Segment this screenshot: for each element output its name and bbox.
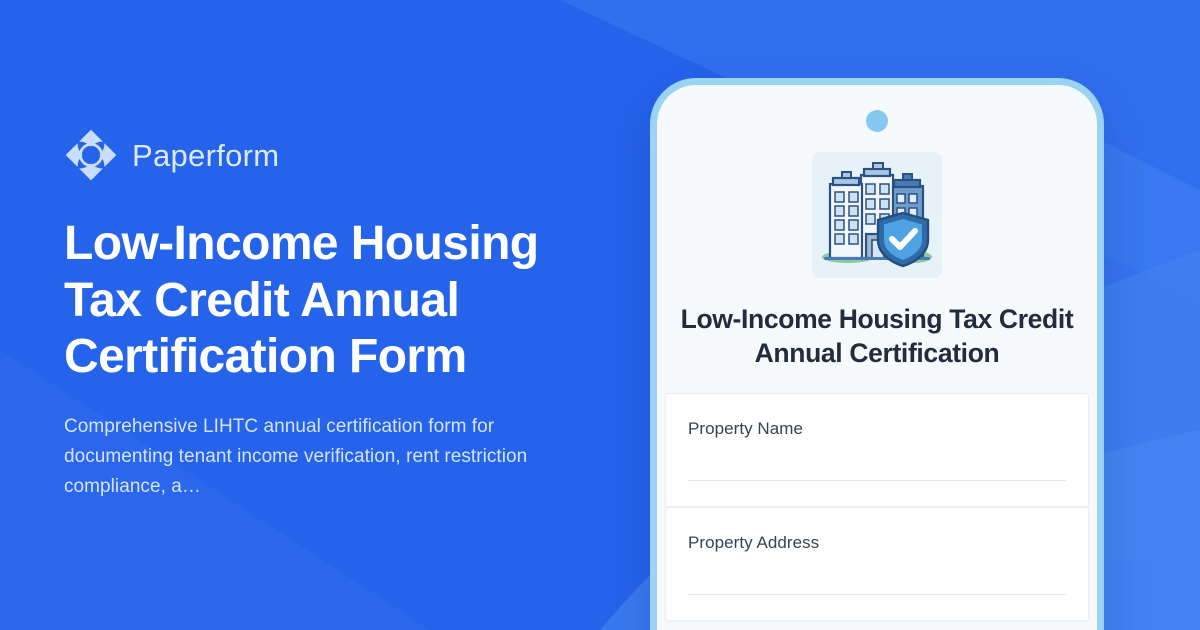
form-field-property-address[interactable]: Property Address bbox=[665, 507, 1089, 621]
og-image-canvas: Paperform Low-Income Housing Tax Credit … bbox=[0, 0, 1200, 630]
apartment-building-shield-icon bbox=[818, 158, 936, 272]
page-title: Low-Income Housing Tax Credit Annual Cer… bbox=[64, 216, 584, 386]
form-field-property-name[interactable]: Property Name bbox=[665, 393, 1089, 507]
field-label: Property Address bbox=[688, 534, 1066, 551]
field-label: Property Name bbox=[688, 420, 1066, 437]
form-hero-icon bbox=[812, 152, 942, 278]
brand-name: Paperform bbox=[132, 140, 279, 171]
field-underline bbox=[688, 594, 1066, 595]
camera-dot-icon bbox=[866, 110, 888, 132]
brand-lockup: Paperform bbox=[64, 128, 604, 182]
hero-text-column: Paperform Low-Income Housing Tax Credit … bbox=[64, 0, 604, 630]
field-underline bbox=[688, 480, 1066, 481]
form-title: Low-Income Housing Tax Credit Annual Cer… bbox=[679, 302, 1075, 371]
phone-mockup: Low-Income Housing Tax Credit Annual Cer… bbox=[650, 78, 1104, 630]
page-subtitle: Comprehensive LIHTC annual certification… bbox=[64, 412, 576, 502]
paperform-star-logo-icon bbox=[64, 128, 118, 182]
